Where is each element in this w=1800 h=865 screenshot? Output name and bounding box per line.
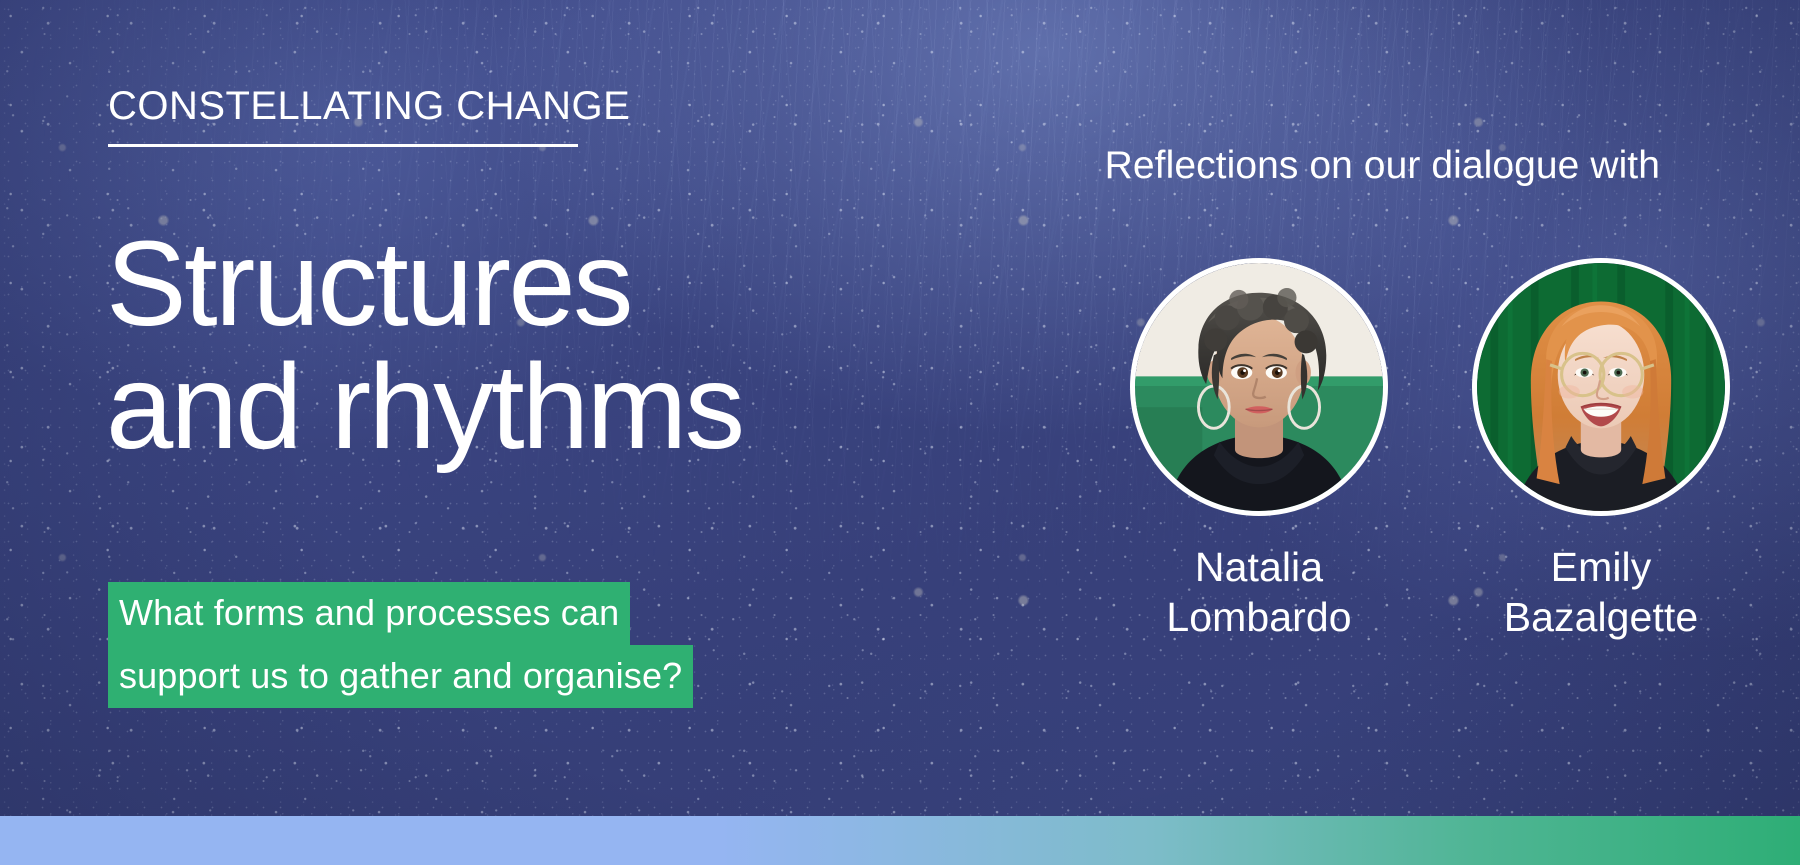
page-title: Structures and rhythms xyxy=(106,222,743,469)
page-title-line-1: Structures xyxy=(106,215,631,351)
left-content-column: CONSTELLATING CHANGE Structures and rhyt… xyxy=(108,0,868,865)
speaker-name-natalia-lombardo: Natalia Lombardo xyxy=(1130,542,1388,642)
footer-gradient-bar xyxy=(0,816,1800,865)
speaker-list: Natalia Lombardo xyxy=(1130,258,1730,642)
avatar-emily-bazalgette xyxy=(1472,258,1730,516)
page-title-line-2: and rhythms xyxy=(106,345,743,468)
avatar-natalia-lombardo xyxy=(1130,258,1388,516)
right-content-column: Reflections on our dialogue with xyxy=(1130,0,1730,865)
speaker-first-name: Emily xyxy=(1551,544,1652,590)
series-eyebrow-label: CONSTELLATING CHANGE xyxy=(108,84,630,129)
portrait-illustration-natalia xyxy=(1135,263,1383,511)
speaker-last-name: Bazalgette xyxy=(1472,592,1730,642)
promo-card: CONSTELLATING CHANGE Structures and rhyt… xyxy=(0,0,1800,865)
portrait-illustration-emily xyxy=(1477,263,1725,511)
dialogue-intro-text: Reflections on our dialogue with xyxy=(1105,144,1660,188)
speaker-card-natalia-lombardo: Natalia Lombardo xyxy=(1130,258,1388,642)
question-line-2: support us to gather and organise? xyxy=(108,645,693,708)
speaker-first-name: Natalia xyxy=(1195,544,1323,590)
speaker-last-name: Lombardo xyxy=(1130,592,1388,642)
eyebrow-underline-rule xyxy=(108,144,578,147)
speaker-card-emily-bazalgette: Emily Bazalgette xyxy=(1472,258,1730,642)
question-highlight-block: What forms and processes can support us … xyxy=(108,582,693,708)
speaker-name-emily-bazalgette: Emily Bazalgette xyxy=(1472,542,1730,642)
question-line-1: What forms and processes can xyxy=(108,582,630,645)
